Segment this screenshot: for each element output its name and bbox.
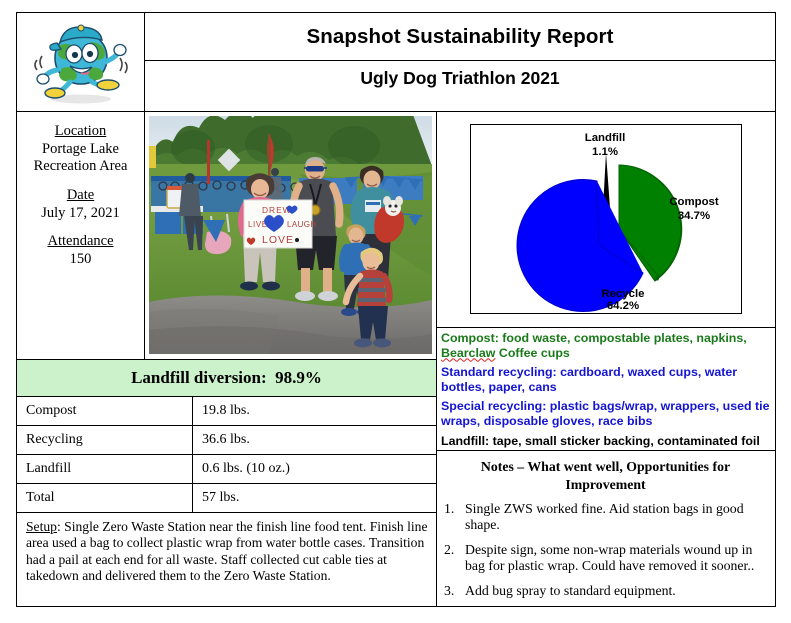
table-row: Total 57 lbs. [17,483,436,512]
right-column: Landfill 1.1% Compost 34.7% Recycle 64.2… [437,112,775,606]
legend-landfill: Landfill: tape, small sticker backing, c… [441,434,771,449]
svg-text:LOVE: LOVE [262,234,294,246]
page-title: Snapshot Sustainability Report [145,13,775,61]
row-category: Recycling [17,425,193,454]
location-label: Location [17,123,144,141]
note-number: 3. [444,583,465,600]
running-globe-mascot-icon [29,18,133,106]
legend-compost: Compost: food waste, compostable plates,… [441,331,771,360]
note-number: 1. [444,501,465,534]
page-subtitle: Ugly Dog Triathlon 2021 [145,61,775,111]
note-number: 2. [444,542,465,575]
row-category: Landfill [17,454,193,483]
legend-compost-text: Compost: food waste, compostable plates,… [441,331,747,345]
row-category: Compost [17,397,193,426]
landfill-diversion-banner: Landfill diversion: 98.9% [17,360,436,397]
location-value-line2: Recreation Area [17,158,144,176]
row-category: Total [17,483,193,512]
diversion-label: Landfill diversion: [131,368,267,388]
pie-label-compost-name: Compost [669,196,719,208]
row-amount: 0.6 lbs. (10 oz.) [193,454,437,483]
note-text: Single ZWS worked fine. Aid station bags… [465,501,767,534]
event-photo: DREW LIVE LAUGH LOVE [149,116,432,354]
photo-cell: DREW LIVE LAUGH LOVE [145,112,436,359]
list-item: 2. Despite sign, some non-wrap materials… [444,542,767,575]
location-group: Location Portage Lake Recreation Area [17,123,144,176]
diversion-value: 98.9% [275,368,322,388]
row-amount: 57 lbs. [193,483,437,512]
legend-special-recycling: Special recycling: plastic bags/wrap, wr… [441,399,771,428]
report-header: Snapshot Sustainability Report Ugly Dog … [17,13,775,112]
note-text: Add bug spray to standard equipment. [465,583,767,600]
pie-label-landfill-value: 1.1% [592,146,618,158]
notes-list: 1. Single ZWS worked fine. Aid station b… [444,501,767,600]
report-page: Snapshot Sustainability Report Ugly Dog … [0,0,791,623]
list-item: 1. Single ZWS worked fine. Aid station b… [444,501,767,534]
legend-standard-recycling: Standard recycling: cardboard, waxed cup… [441,365,771,394]
chart-cell: Landfill 1.1% Compost 34.7% Recycle 64.2… [437,112,775,328]
list-item: 3. Add bug spray to standard equipment. [444,583,767,600]
setup-text: : Single Zero Waste Station near the fin… [26,519,428,583]
pie-label-recycle-value: 64.2% [607,300,639,312]
table-row: Compost 19.8 lbs. [17,397,436,426]
attendance-label: Attendance [17,233,144,251]
location-value-line1: Portage Lake [17,141,144,159]
date-group: Date July 17, 2021 [17,187,144,222]
row-amount: 36.6 lbs. [193,425,437,454]
pie-label-recycle-name: Recycle [601,288,644,300]
row-amount: 19.8 lbs. [193,397,437,426]
attendance-group: Attendance 150 [17,233,144,268]
report-body: Location Portage Lake Recreation Area Da… [17,112,775,606]
report-table: Snapshot Sustainability Report Ugly Dog … [16,12,776,607]
event-info-cell: Location Portage Lake Recreation Area Da… [17,112,145,359]
setup-label: Setup [26,519,57,534]
legend-compost-misspelled: Bearclaw [441,346,495,360]
note-text: Despite sign, some non-wrap materials wo… [465,542,767,575]
pie-label-compost-value: 34.7% [678,210,710,222]
svg-text:LAUGH: LAUGH [287,220,317,229]
legend-compost-tail: Coffee cups [495,346,569,360]
date-value: July 17, 2021 [17,205,144,223]
waste-stream-legend: Compost: food waste, compostable plates,… [437,328,775,451]
info-photo-row: Location Portage Lake Recreation Area Da… [17,112,436,360]
attendance-value: 150 [17,251,144,269]
date-label: Date [17,187,144,205]
waste-weights-table: Compost 19.8 lbs. Recycling 36.6 lbs. La… [17,397,436,513]
notes-section: Notes – What went well, Opportunities fo… [437,451,775,611]
table-row: Landfill 0.6 lbs. (10 oz.) [17,454,436,483]
setup-description: Setup: Single Zero Waste Station near th… [17,513,436,606]
table-row: Recycling 36.6 lbs. [17,425,436,454]
left-column: Location Portage Lake Recreation Area Da… [17,112,437,606]
waste-composition-pie-chart: Landfill 1.1% Compost 34.7% Recycle 64.2… [470,124,742,314]
notes-title: Notes – What went well, Opportunities fo… [444,458,767,492]
pie-label-landfill-name: Landfill [585,132,626,144]
logo-cell [17,13,145,111]
header-titles: Snapshot Sustainability Report Ugly Dog … [145,13,775,111]
handmade-sign: DREW LIVE LAUGH LOVE [244,200,317,248]
